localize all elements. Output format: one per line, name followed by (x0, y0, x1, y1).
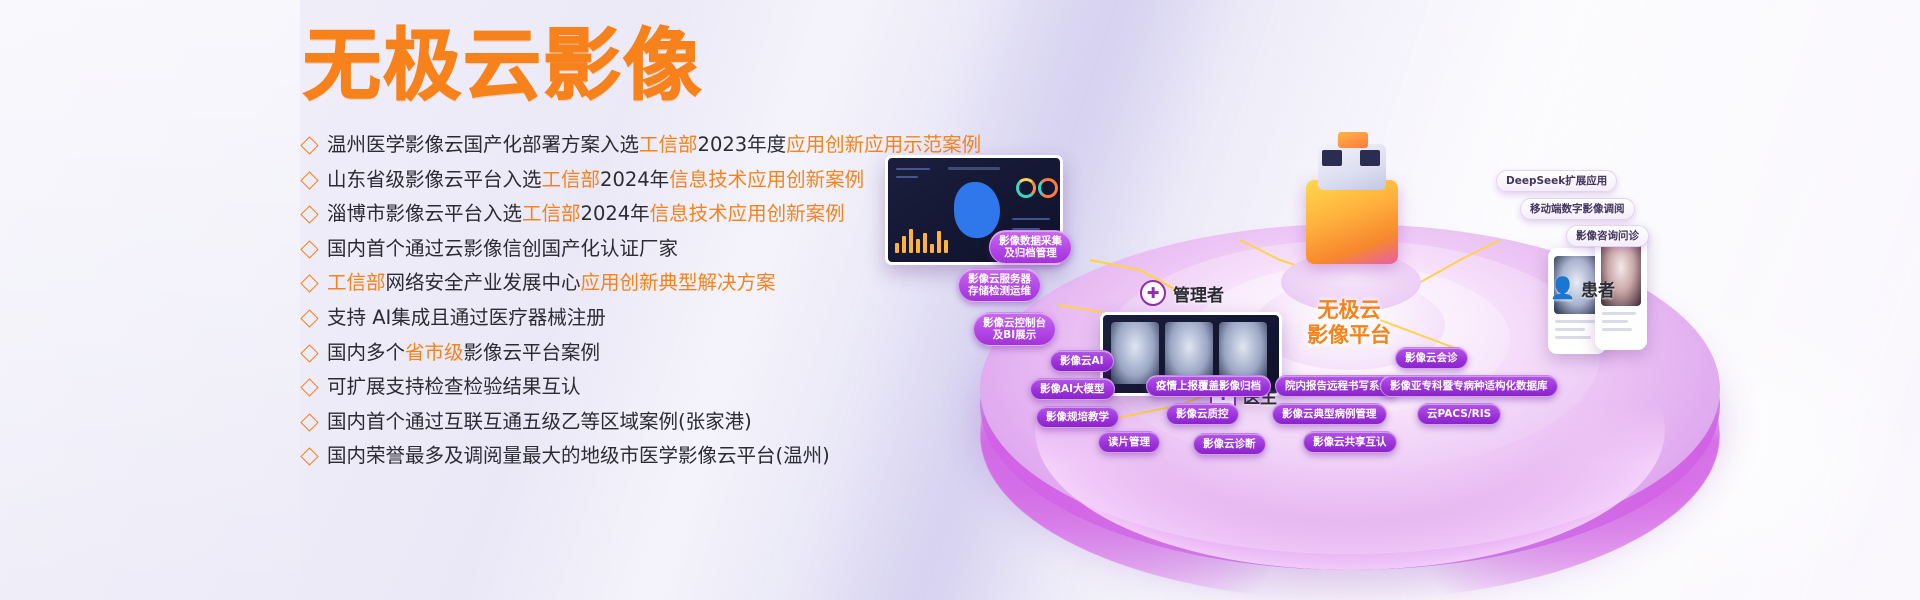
person-icon: 👤 (1552, 278, 1574, 300)
pill-console-bi-line1: 影像云控制台 (983, 317, 1046, 329)
pill-data-archive-line1: 影像数据采集 (999, 235, 1062, 247)
plain-text: 国内多个 (327, 341, 405, 364)
diamond-bullet-icon (300, 136, 318, 154)
tower-window-left (1322, 150, 1342, 166)
pill-case-mgmt[interactable]: 影像云典型病例管理 (1272, 403, 1387, 425)
pill-remote-report-line1: 院内报告远程书写系统 (1285, 380, 1390, 392)
pill-case-mgmt-line1: 影像云典型病例管理 (1282, 408, 1377, 420)
plain-text: 2023年度 (698, 133, 787, 156)
diamond-bullet-icon (300, 413, 318, 431)
list-item-label: 可扩展支持检查检验结果互认 (327, 373, 581, 400)
pill-data-archive[interactable]: 影像数据采集及归档管理 (989, 230, 1072, 264)
list-item: 国内首个通过互联互通五级乙等区域案例(张家港) (303, 408, 943, 438)
pill-deepseek[interactable]: DeepSeek扩展应用 (1496, 170, 1617, 192)
pill-share-auth-line1: 影像云共享互认 (1313, 436, 1387, 448)
plain-text: 影像云平台案例 (464, 341, 601, 364)
pill-subspecialty-line1: 影像亚专科暨专病种适构化数据库 (1390, 380, 1548, 392)
pill-console-bi-line2: 及BI展示 (983, 329, 1046, 341)
list-item-label: 国内首个通过互联互通五级乙等区域案例(张家港) (327, 408, 752, 435)
highlight-text: 工信部 (542, 168, 601, 191)
list-item: 国内多个省市级影像云平台案例 (303, 339, 943, 369)
plain-text: 温州医学影像云国产化部署方案入选 (327, 133, 639, 156)
pill-consultation[interactable]: 影像云会诊 (1395, 347, 1468, 369)
plain-text: 支持 AI集成且通过医疗器械注册 (327, 306, 606, 329)
pill-consultation-line1: 影像云会诊 (1405, 352, 1458, 364)
pill-read-mgmt[interactable]: 读片管理 (1098, 431, 1160, 453)
diamond-bullet-icon (300, 378, 318, 396)
diamond-bullet-icon (300, 309, 318, 327)
role-admin-label: 管理者 (1173, 281, 1224, 306)
list-item: 工信部网络安全产业发展中心应用创新典型解决方案 (303, 269, 943, 299)
pill-epidemic-line1: 疫情上报覆盖影像归档 (1156, 380, 1261, 392)
diamond-bullet-icon (300, 448, 318, 466)
list-item: 支持 AI集成且通过医疗器械注册 (303, 304, 943, 334)
list-item-label: 淄博市影像云平台入选工信部2024年信息技术应用创新案例 (327, 200, 845, 227)
pill-ai-model-line1: 影像AI大模型 (1040, 383, 1105, 395)
platform-architecture-diagram: ✚ 管理者 ✚ 医生 👤 患者 无极云 影像平台 DeepSeek扩展应用移动端… (940, 120, 1920, 600)
pill-data-archive-line2: 及归档管理 (999, 247, 1062, 259)
list-item: 淄博市影像云平台入选工信部2024年信息技术应用创新案例 (303, 200, 943, 230)
pill-server-ops-line1: 影像云服务器 (968, 273, 1031, 285)
list-item: 国内首个通过云影像信创国产化认证厂家 (303, 235, 943, 265)
list-item-label: 国内荣誉最多及调阅量最大的地级市医学影像云平台(温州) (327, 442, 830, 469)
pill-ai-model[interactable]: 影像AI大模型 (1030, 378, 1115, 400)
list-item-label: 国内多个省市级影像云平台案例 (327, 339, 600, 366)
plus-circle-icon: ✚ (1140, 280, 1166, 306)
list-item-label: 温州医学影像云国产化部署方案入选工信部2023年度应用创新应用示范案例 (327, 131, 981, 158)
pill-diagnosis[interactable]: 影像云诊断 (1193, 433, 1266, 455)
pill-consult-line1: 影像咨询问诊 (1576, 230, 1639, 242)
center-platform-badge: 无极云 影像平台 (1273, 298, 1425, 348)
plain-text: 国内首个通过云影像信创国产化认证厂家 (327, 237, 678, 260)
pill-cloud-ai[interactable]: 影像云AI (1050, 350, 1114, 372)
list-item: 温州医学影像云国产化部署方案入选工信部2023年度应用创新应用示范案例 (303, 131, 943, 161)
pill-console-bi[interactable]: 影像云控制台及BI展示 (973, 312, 1056, 346)
center-badge-line1: 无极云 (1273, 298, 1425, 323)
list-item-label: 国内首个通过云影像信创国产化认证厂家 (327, 235, 678, 262)
role-admin[interactable]: ✚ 管理者 (1140, 280, 1224, 306)
plain-text: 国内荣誉最多及调阅量最大的地级市医学影像云平台(温州) (327, 444, 830, 467)
tower-window-right (1360, 150, 1380, 166)
pill-mobile-view[interactable]: 移动端数字影像调阅 (1520, 198, 1635, 220)
diamond-bullet-icon (300, 240, 318, 258)
pill-cloud-ai-line1: 影像云AI (1060, 355, 1104, 367)
pill-teaching[interactable]: 影像规培教学 (1036, 406, 1119, 428)
role-patient[interactable]: 👤 患者 (1552, 276, 1615, 301)
list-item-label: 山东省级影像云平台入选工信部2024年信息技术应用创新案例 (327, 166, 864, 193)
highlight-text: 省市级 (405, 341, 464, 364)
list-item-label: 支持 AI集成且通过医疗器械注册 (327, 304, 606, 331)
list-item: 山东省级影像云平台入选工信部2024年信息技术应用创新案例 (303, 166, 943, 196)
diamond-bullet-icon (300, 275, 318, 293)
left-content-column: 无极云影像 温州医学影像云国产化部署方案入选工信部2023年度应用创新应用示范案… (0, 0, 960, 600)
tower-body (1306, 180, 1398, 264)
pill-read-mgmt-line1: 读片管理 (1108, 436, 1150, 448)
pill-epidemic[interactable]: 疫情上报覆盖影像归档 (1146, 375, 1271, 397)
highlight-text: 信息技术应用创新案例 (669, 168, 864, 191)
highlight-text: 应用创新典型解决方案 (581, 271, 776, 294)
page-title: 无极云影像 (303, 24, 703, 108)
pill-pacs-ris[interactable]: 云PACS/RIS (1417, 403, 1501, 425)
plain-text: 山东省级影像云平台入选 (327, 168, 542, 191)
pill-mobile-view-line1: 移动端数字影像调阅 (1530, 203, 1625, 215)
pill-qc-line1: 影像云质控 (1176, 408, 1229, 420)
plain-text: 2024年 (600, 168, 669, 191)
plain-text: 可扩展支持检查检验结果互认 (327, 375, 581, 398)
highlight-text: 工信部 (522, 202, 581, 225)
list-item-label: 工信部网络安全产业发展中心应用创新典型解决方案 (327, 269, 776, 296)
plain-text: 网络安全产业发展中心 (386, 271, 581, 294)
plain-text: 国内首个通过互联互通五级乙等区域案例(张家港) (327, 410, 752, 433)
banner-root: 无极云影像 温州医学影像云国产化部署方案入选工信部2023年度应用创新应用示范案… (0, 0, 1920, 600)
center-badge-line2: 影像平台 (1273, 323, 1425, 348)
list-item: 可扩展支持检查检验结果互认 (303, 373, 943, 403)
plain-text: 2024年 (581, 202, 650, 225)
diamond-bullet-icon (300, 344, 318, 362)
pill-deepseek-line1: DeepSeek扩展应用 (1506, 175, 1607, 187)
highlight-text: 工信部 (639, 133, 698, 156)
pill-subspecialty[interactable]: 影像亚专科暨专病种适构化数据库 (1380, 375, 1558, 397)
highlight-text: 信息技术应用创新案例 (650, 202, 845, 225)
feature-list: 温州医学影像云国产化部署方案入选工信部2023年度应用创新应用示范案例山东省级影… (303, 131, 943, 477)
pill-teaching-line1: 影像规培教学 (1046, 411, 1109, 423)
pill-share-auth[interactable]: 影像云共享互认 (1303, 431, 1397, 453)
pill-qc[interactable]: 影像云质控 (1166, 403, 1239, 425)
pill-consult[interactable]: 影像咨询问诊 (1566, 225, 1649, 247)
pill-diagnosis-line1: 影像云诊断 (1203, 438, 1256, 450)
diamond-bullet-icon (300, 205, 318, 223)
pill-pacs-ris-line1: 云PACS/RIS (1427, 408, 1491, 420)
role-patient-label: 患者 (1581, 276, 1615, 301)
pill-server-ops[interactable]: 影像云服务器存储检测运维 (958, 268, 1041, 302)
list-item: 国内荣誉最多及调阅量最大的地级市医学影像云平台(温州) (303, 442, 943, 472)
diamond-bullet-icon (300, 171, 318, 189)
highlight-text: 工信部 (327, 271, 386, 294)
plain-text: 淄博市影像云平台入选 (327, 202, 522, 225)
pill-server-ops-line2: 存储检测运维 (968, 285, 1031, 297)
tower-roof-panel (1338, 132, 1368, 148)
